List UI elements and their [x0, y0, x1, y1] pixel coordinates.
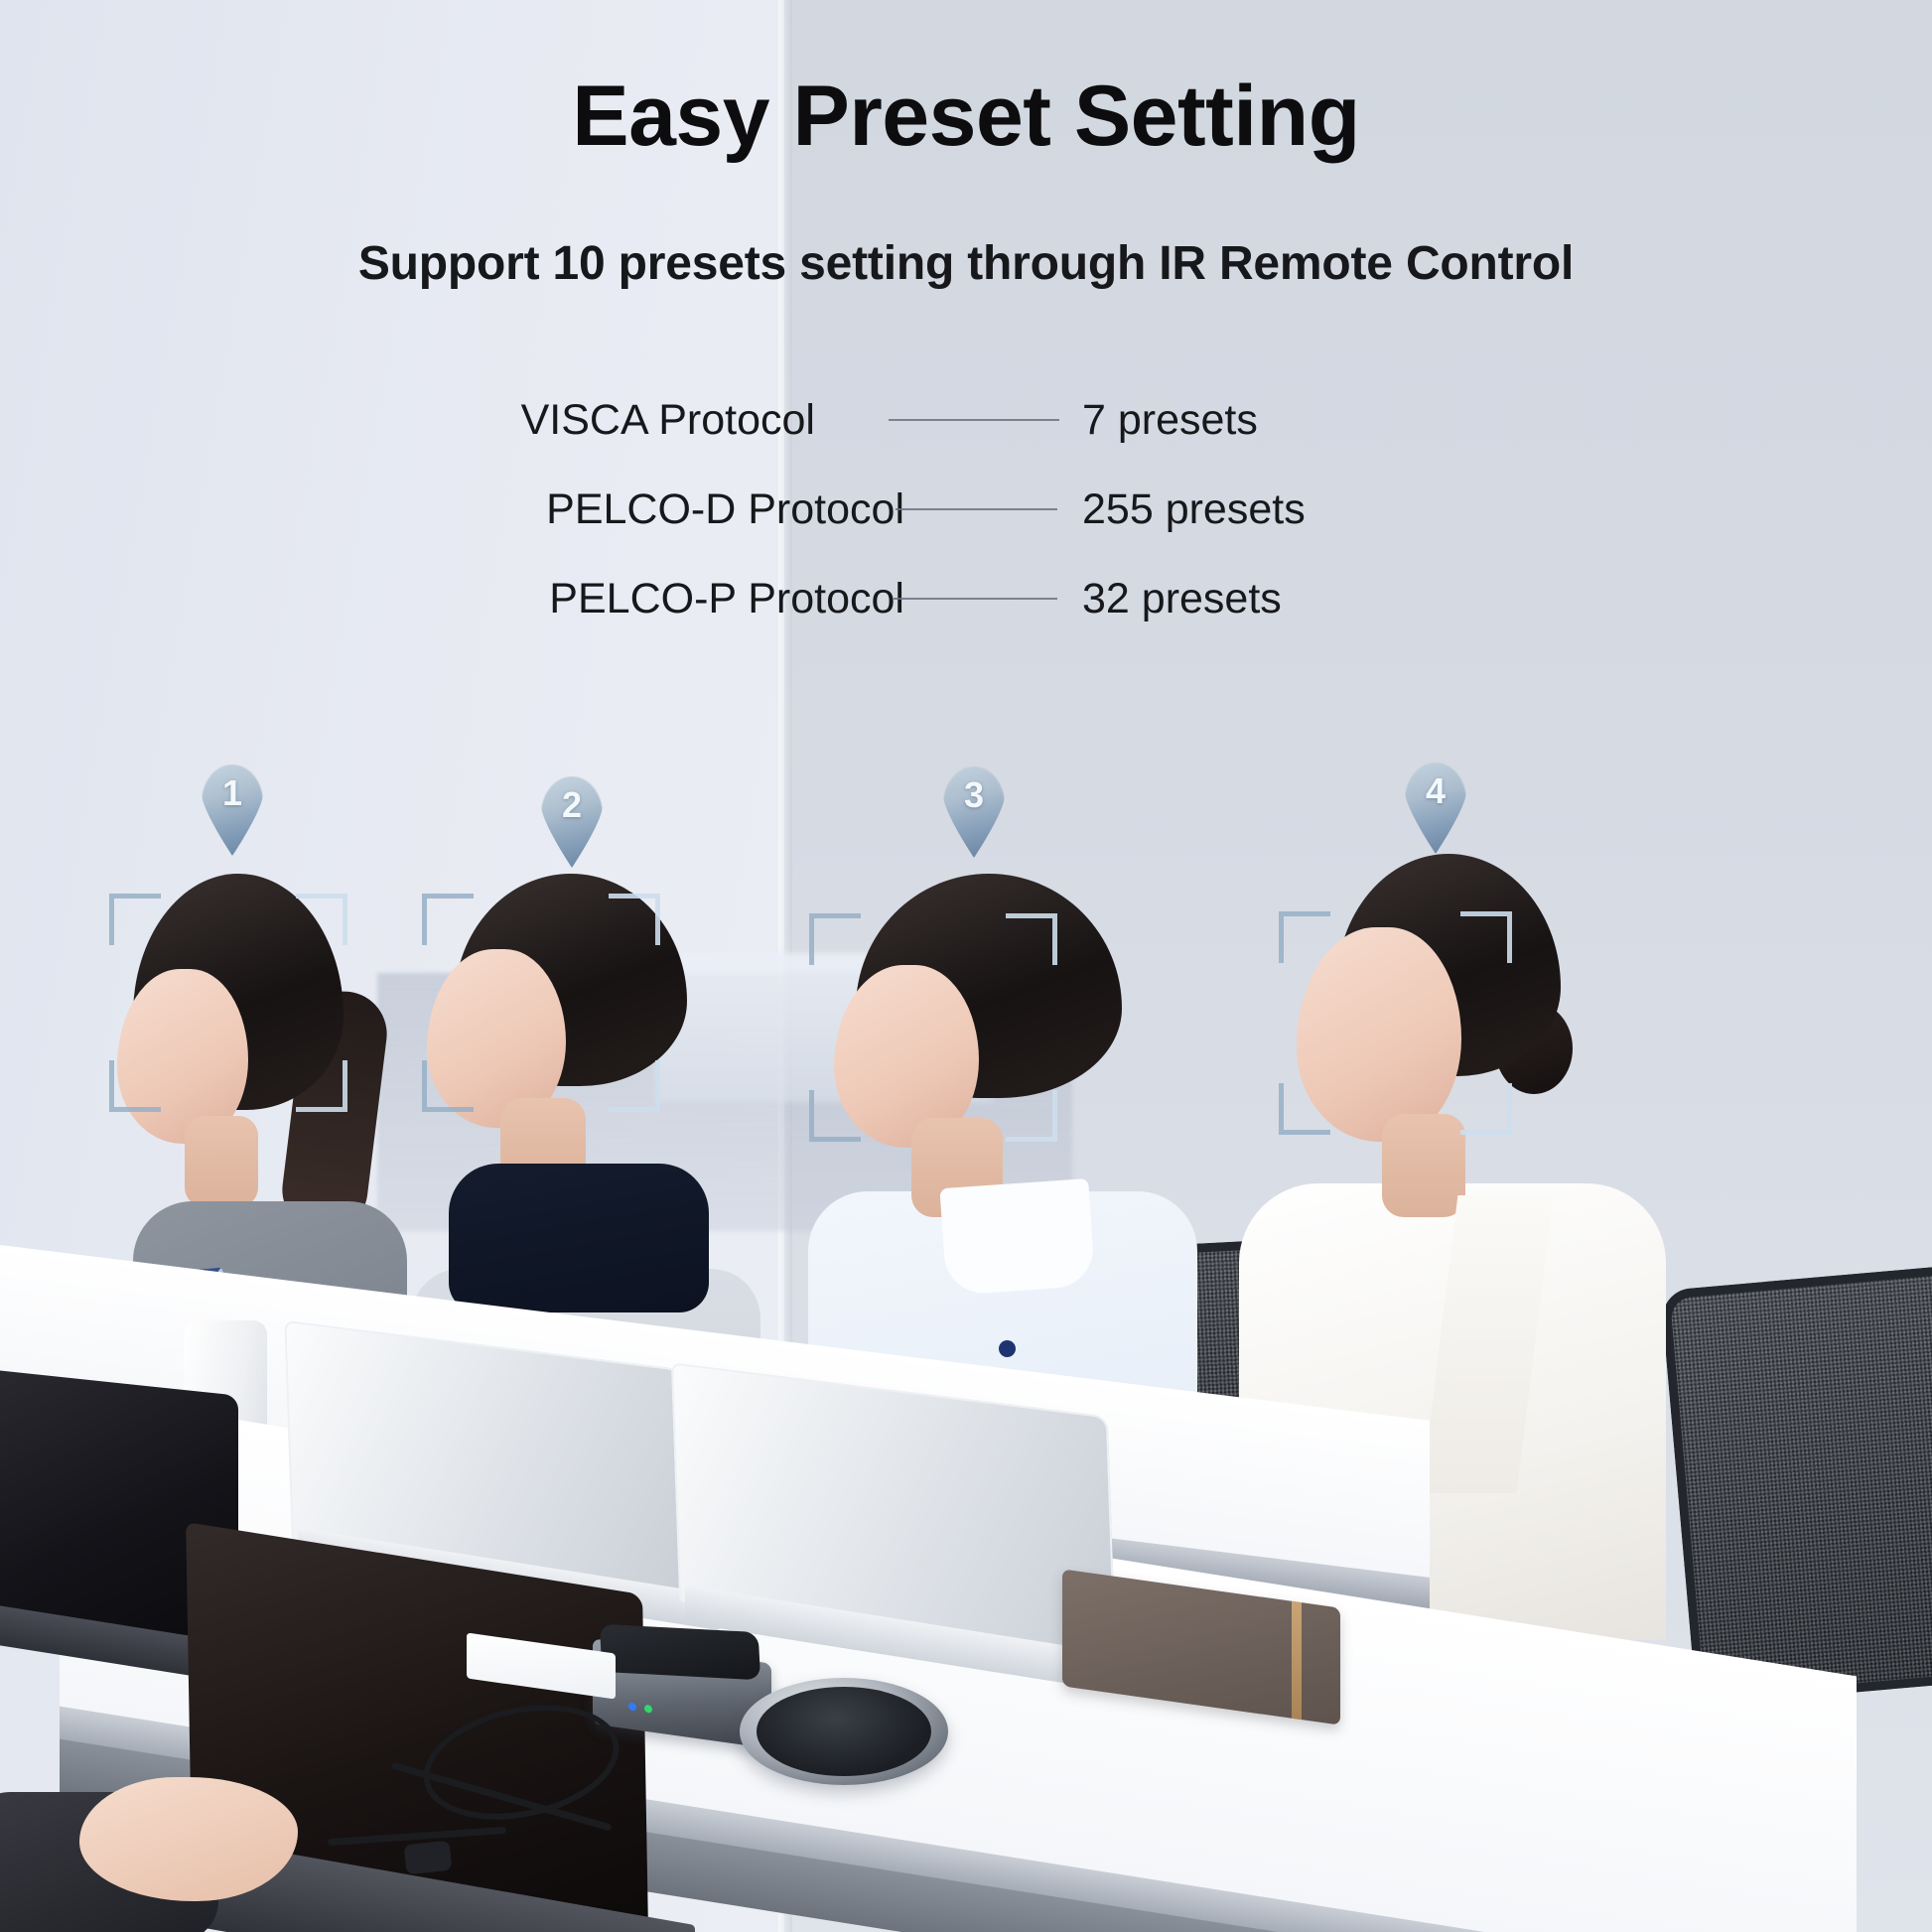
hub-status-leds [628, 1703, 736, 1725]
protocol-preset-count: 7 presets [1082, 396, 1258, 445]
bracket-corner-top-left [1279, 911, 1330, 963]
preset-pin-number: 4 [1405, 770, 1466, 812]
preset-pin-4: 4 [1405, 762, 1466, 854]
participant-3-button [999, 1340, 1016, 1357]
bracket-corner-top-right [609, 894, 660, 945]
participant-1-neck [185, 1116, 258, 1207]
protocol-preset-count: 255 presets [1082, 485, 1306, 534]
protocol-label: PELCO-D Protocol [546, 485, 904, 534]
bracket-corner-top-right [1460, 911, 1512, 963]
preset-pin-2: 2 [541, 776, 603, 868]
speakerphone-top-surface [757, 1687, 931, 1777]
bracket-corner-bottom-right [1006, 1090, 1057, 1142]
protocol-label: PELCO-P Protocol [549, 575, 904, 623]
face-tracking-bracket-3 [809, 913, 1057, 1142]
face-tracking-bracket-2 [422, 894, 660, 1112]
foreground-hand [79, 1777, 298, 1901]
bracket-corner-top-right [296, 894, 347, 945]
preset-pin-number: 2 [541, 784, 603, 826]
notebook-elastic-band [1292, 1601, 1302, 1720]
protocol-connector-line [894, 598, 1057, 600]
protocol-row: PELCO-D Protocol 255 presets [0, 465, 1932, 554]
bracket-corner-bottom-right [1460, 1083, 1512, 1135]
bracket-corner-top-left [422, 894, 474, 945]
bracket-corner-bottom-left [1279, 1083, 1330, 1135]
led-green [644, 1705, 652, 1714]
bracket-corner-bottom-right [609, 1060, 660, 1112]
protocol-connector-line [889, 419, 1059, 421]
bracket-corner-top-right [1006, 913, 1057, 965]
led-blue [628, 1703, 636, 1712]
page-subtitle: Support 10 presets setting through IR Re… [0, 236, 1932, 291]
protocol-row: VISCA Protocol 7 presets [0, 375, 1932, 465]
protocol-connector-line [896, 508, 1057, 510]
product-feature-image: Easy Preset Setting Support 10 presets s… [0, 0, 1932, 1932]
bracket-corner-bottom-left [422, 1060, 474, 1112]
preset-pin-number: 1 [202, 772, 263, 814]
preset-pin-1: 1 [202, 764, 263, 856]
protocol-spec-list: VISCA Protocol 7 presets PELCO-D Protoco… [0, 375, 1932, 643]
protocol-label: VISCA Protocol [521, 396, 815, 445]
preset-pin-number: 3 [943, 774, 1005, 816]
bracket-corner-top-left [109, 894, 161, 945]
bracket-corner-bottom-left [809, 1090, 861, 1142]
speakerphone-device [740, 1678, 948, 1785]
preset-pin-3: 3 [943, 766, 1005, 858]
camera-clip-mount [600, 1624, 760, 1681]
page-title: Easy Preset Setting [0, 68, 1932, 166]
participant-3-collar [939, 1178, 1095, 1296]
bracket-corner-bottom-right [296, 1060, 347, 1112]
face-tracking-bracket-1 [109, 894, 347, 1112]
bracket-corner-top-left [809, 913, 861, 965]
face-tracking-bracket-4 [1279, 911, 1512, 1135]
protocol-row: PELCO-P Protocol 32 presets [0, 554, 1932, 643]
cable-ferrite-bead [404, 1841, 453, 1875]
protocol-preset-count: 32 presets [1082, 575, 1282, 623]
bracket-corner-bottom-left [109, 1060, 161, 1112]
participant-2-collar [449, 1164, 709, 1312]
